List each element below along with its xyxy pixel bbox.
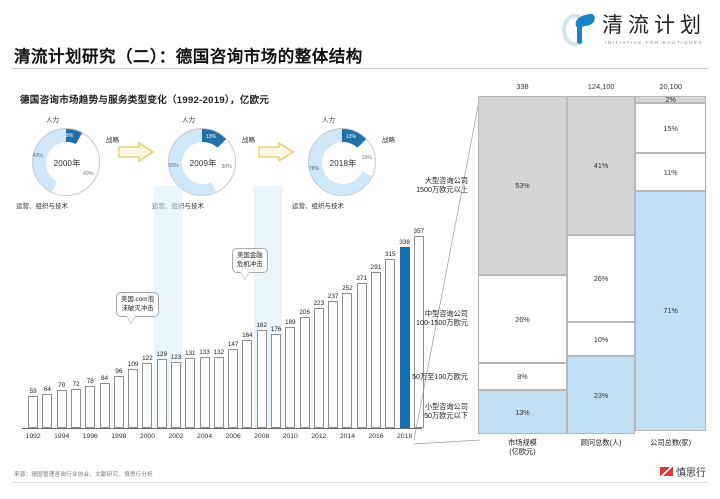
bar-1993 bbox=[42, 394, 52, 428]
x-tick-1996: 1996 bbox=[78, 433, 102, 440]
bar-2002 bbox=[171, 362, 181, 428]
donut-segment-label: 59% bbox=[168, 163, 178, 169]
marimekko-segment-2-3: 71% bbox=[635, 191, 706, 431]
column-footer: 公司总数(家) bbox=[635, 438, 706, 447]
bar-value-label: 271 bbox=[351, 275, 373, 282]
bar-value-label: 109 bbox=[122, 361, 144, 368]
bar-1998 bbox=[114, 376, 124, 428]
row-label-line1: 中型咨询公司 bbox=[416, 309, 468, 318]
marimekko-segment-0-1: 26% bbox=[478, 275, 567, 363]
marimekko-column-0: 33853%26%8%13%市场规模(亿欧元) bbox=[478, 96, 567, 434]
bar-value-label: 84 bbox=[94, 375, 116, 382]
marimekko-segment-2-2: 11% bbox=[635, 153, 706, 190]
slide-root: 清流计划 INITIATIVE FOR BOUTIQUES 清流计划研究（二）：… bbox=[0, 0, 720, 499]
crisis-callout-line2: 危机冲击 bbox=[237, 261, 263, 270]
bar-2015 bbox=[357, 283, 367, 428]
source-note: 来源：德国管理咨询行业协会、文献研究、慎思行分析 bbox=[14, 470, 153, 478]
marimekko-column-2: 20,1002%15%11%71%公司总数(家) bbox=[635, 96, 706, 434]
x-tick-1998: 1998 bbox=[107, 433, 131, 440]
brand-logo: 清流计划 INITIATIVE FOR BOUTIQUES bbox=[562, 12, 706, 48]
footer-divider bbox=[12, 482, 708, 483]
marimekko-row-label-1: 中型咨询公司100-1500万欧元 bbox=[416, 309, 468, 328]
x-tick-2012: 2012 bbox=[307, 433, 331, 440]
bar-2006 bbox=[228, 349, 238, 428]
bar-chart-axis bbox=[22, 428, 422, 429]
donut-center-label: 2000年 bbox=[46, 142, 88, 184]
bar-value-label: 237 bbox=[322, 293, 344, 300]
bar-2010 bbox=[285, 327, 295, 428]
bar-value-label: 291 bbox=[365, 264, 387, 271]
bar-1995 bbox=[71, 389, 81, 428]
row-label-line1: 50万至100万欧元 bbox=[412, 372, 468, 381]
marimekko-segment-1-2: 10% bbox=[567, 322, 635, 356]
bar-2014 bbox=[342, 293, 352, 428]
dotcom-callout-line2: 沫破灭冲击 bbox=[121, 305, 154, 314]
marimekko-segment-1-0: 41% bbox=[567, 96, 635, 235]
x-tick-2002: 2002 bbox=[164, 433, 188, 440]
donut-segment-label: 43% bbox=[33, 153, 43, 159]
logo-title: 清流计划 bbox=[602, 15, 706, 37]
bar-1997 bbox=[100, 383, 110, 428]
donut-chart-0: 2000年人力战略运营、组织与技术8%49%43% bbox=[32, 128, 100, 196]
donut-center-label: 2009年 bbox=[182, 142, 224, 184]
bar-1996 bbox=[85, 386, 95, 428]
bar-2005 bbox=[214, 357, 224, 428]
quill-circle-icon bbox=[562, 12, 596, 48]
marimekko-segment-2-1: 15% bbox=[635, 103, 706, 154]
marimekko-row-label-0: 大型咨询公司1500万欧元以上 bbox=[416, 176, 468, 195]
bar-value-label: 252 bbox=[336, 285, 358, 292]
dotcom-callout: 美国.com泡 沫破灭冲击 bbox=[116, 292, 159, 317]
bar-2001 bbox=[157, 359, 167, 428]
marimekko-segment-0-3: 13% bbox=[478, 390, 567, 434]
watermark-icon bbox=[660, 467, 673, 476]
bar-value-label: 176 bbox=[265, 326, 287, 333]
market-size-bar-chart: 5964707278849610912212912313113313214716… bbox=[26, 212, 426, 428]
row-label-line1: 大型咨询公司 bbox=[416, 176, 468, 185]
column-axis-label-2: (亿欧元) bbox=[478, 447, 567, 456]
row-label-line2: 50万欧元以下 bbox=[424, 411, 468, 420]
bar-chart-x-ticks: 1992199419961998200020022004200620082010… bbox=[26, 433, 426, 447]
left-chart-title: 德国咨询市场趋势与服务类型变化（1992-2019），亿欧元 bbox=[20, 92, 269, 106]
donut-label-hr: 人力 bbox=[182, 114, 195, 124]
row-label-line2: 1500万欧元以上 bbox=[416, 185, 468, 194]
column-axis-label: 市场规模 bbox=[478, 438, 567, 447]
dotcom-callout-line1: 美国.com泡 bbox=[121, 296, 154, 305]
column-total-label: 338 bbox=[478, 82, 567, 91]
bar-2000 bbox=[142, 363, 152, 428]
x-tick-2006: 2006 bbox=[221, 433, 245, 440]
column-total-label: 20,100 bbox=[635, 82, 706, 91]
donut-group: 2000年人力战略运营、组织与技术8%49%43%2009年人力战略运营、组织与… bbox=[18, 108, 408, 208]
financial-crisis-callout: 美国金融 危机冲击 bbox=[232, 248, 268, 273]
donut-label-strategy: 战略 bbox=[242, 134, 255, 144]
x-tick-2014: 2014 bbox=[335, 433, 359, 440]
bar-value-label: 147 bbox=[222, 341, 244, 348]
column-footer: 顾问总数(人) bbox=[567, 438, 635, 447]
donut-segment-label: 78% bbox=[309, 166, 319, 172]
donut-ring: 2018年 bbox=[308, 128, 376, 196]
bar-1994 bbox=[57, 390, 67, 428]
arrow-right-icon bbox=[258, 142, 294, 162]
donut-label-hr: 人力 bbox=[322, 114, 335, 124]
donut-label-ops: 运营、组织与技术 bbox=[16, 200, 68, 210]
donut-center-label: 2018年 bbox=[322, 142, 364, 184]
x-tick-1994: 1994 bbox=[50, 433, 74, 440]
bar-2016 bbox=[371, 272, 381, 428]
bar-2003 bbox=[185, 358, 195, 428]
row-label-line2: 100-1500万欧元 bbox=[416, 318, 468, 327]
bar-value-label: 164 bbox=[236, 332, 258, 339]
bar-2007 bbox=[242, 340, 252, 428]
marimekko-segment-2-0: 2% bbox=[635, 96, 706, 103]
x-tick-2010: 2010 bbox=[278, 433, 302, 440]
crisis-callout-line1: 美国金融 bbox=[237, 252, 263, 261]
marimekko-chart: 33853%26%8%13%市场规模(亿欧元)124,10041%26%10%2… bbox=[478, 96, 706, 434]
bar-value-label: 223 bbox=[308, 300, 330, 307]
bar-2011 bbox=[300, 317, 310, 428]
bar-2012 bbox=[314, 308, 324, 428]
bar-value-label: 206 bbox=[294, 309, 316, 316]
marimekko-segment-1-1: 26% bbox=[567, 235, 635, 323]
bar-2008 bbox=[257, 330, 267, 428]
column-axis-label: 公司总数(家) bbox=[635, 438, 706, 447]
marimekko-segment-1-3: 23% bbox=[567, 356, 635, 434]
logo-subtitle: INITIATIVE FOR BOUTIQUES bbox=[605, 40, 703, 45]
page-title: 清流计划研究（二）：德国咨询市场的整体结构 bbox=[14, 43, 363, 67]
marimekko-column-1: 124,10041%26%10%23%顾问总数(人) bbox=[567, 96, 635, 434]
bar-2013 bbox=[328, 301, 338, 428]
bar-1999 bbox=[128, 369, 138, 428]
column-footer: 市场规模(亿欧元) bbox=[478, 438, 567, 456]
x-tick-2000: 2000 bbox=[135, 433, 159, 440]
bar-value-label: 96 bbox=[108, 368, 130, 375]
watermark: 慎思行 bbox=[660, 464, 706, 479]
donut-segment-label: 30% bbox=[222, 164, 232, 170]
column-axis-label: 顾问总数(人) bbox=[567, 438, 635, 447]
marimekko-row-label-2: 50万至100万欧元 bbox=[412, 372, 468, 381]
bar-1992 bbox=[28, 396, 38, 428]
donut-label-hr: 人力 bbox=[46, 114, 59, 124]
column-total-label: 124,100 bbox=[567, 82, 635, 91]
marimekko-segment-0-2: 8% bbox=[478, 363, 567, 390]
marimekko-row-label-3: 小型咨询公司50万欧元以下 bbox=[424, 402, 468, 421]
donut-segment-label: 13% bbox=[206, 134, 216, 140]
x-tick-2016: 2016 bbox=[364, 433, 388, 440]
row-label-line1: 小型咨询公司 bbox=[424, 402, 468, 411]
marimekko-segment-0-0: 53% bbox=[478, 96, 567, 275]
marimekko-row-labels: 大型咨询公司1500万欧元以上中型咨询公司100-1500万欧元50万至100万… bbox=[394, 96, 474, 434]
bar-2009 bbox=[271, 334, 281, 428]
donut-chart-2: 2018年人力战略运营、组织与技术13%19%78% bbox=[308, 128, 376, 196]
x-tick-1992: 1992 bbox=[21, 433, 45, 440]
bar-value-label: 189 bbox=[279, 319, 301, 326]
donut-segment-label: 19% bbox=[362, 155, 372, 161]
bar-2004 bbox=[200, 357, 210, 428]
donut-segment-label: 8% bbox=[66, 133, 74, 139]
x-tick-2004: 2004 bbox=[193, 433, 217, 440]
watermark-label: 慎思行 bbox=[676, 464, 706, 479]
bar-value-label: 132 bbox=[208, 349, 230, 356]
x-tick-2008: 2008 bbox=[250, 433, 274, 440]
title-divider bbox=[12, 68, 708, 69]
donut-label-ops: 运营、组织与技术 bbox=[292, 200, 344, 210]
arrow-right-icon bbox=[118, 142, 154, 162]
donut-segment-label: 49% bbox=[83, 171, 93, 177]
donut-segment-label: 13% bbox=[346, 134, 356, 140]
